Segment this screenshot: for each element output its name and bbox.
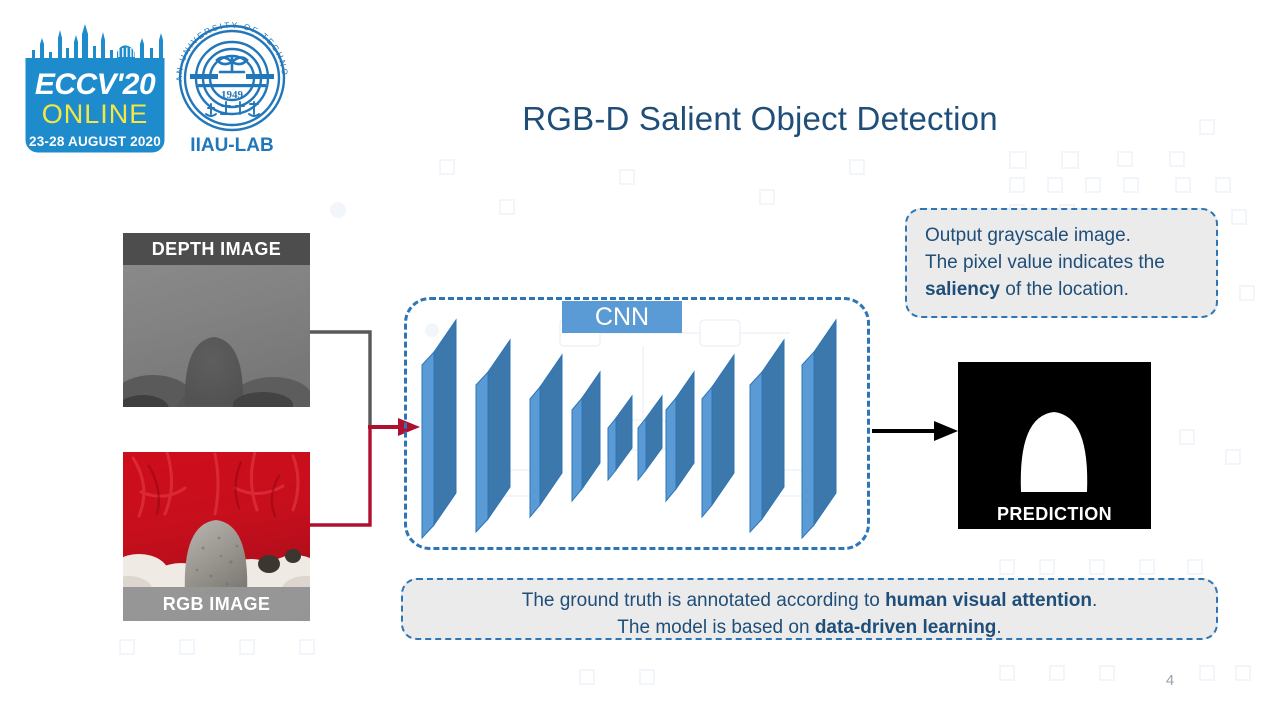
page-title: RGB-D Salient Object Detection — [430, 100, 1090, 138]
eccv-2020-online-logo: ECCV'20 ONLINE 23-28 AUGUST 2020 — [22, 18, 168, 156]
gt-line2-post: . — [996, 617, 1001, 638]
eccv-logo-line1: ECCV'20 — [35, 68, 156, 101]
ground-truth-note-line1: The ground truth is annotated according … — [413, 587, 1206, 614]
gt-line1-pre: The ground truth is annotated according … — [522, 590, 885, 611]
output-note-emphasis: saliency — [925, 279, 1000, 300]
rgb-image-label: RGB IMAGE — [123, 587, 310, 621]
cnn-badge-label: CNN — [562, 301, 682, 333]
output-note-line3-tail: of the location. — [1000, 279, 1129, 300]
depth-image-card: DEPTH IMAGE — [123, 233, 310, 407]
output-note-line2: The pixel value indicates the — [925, 249, 1202, 276]
prediction-image-label: PREDICTION — [958, 504, 1151, 525]
gt-line1-post: . — [1092, 590, 1097, 611]
eccv-logo-line2: ONLINE — [42, 99, 149, 129]
slide-canvas: ECCV'20 ONLINE 23-28 AUGUST 2020 — [0, 0, 1272, 711]
dut-logo-year: 1949 — [221, 89, 244, 101]
gt-line2-pre: The model is based on — [617, 617, 815, 638]
ground-truth-note-line2: The model is based on data-driven learni… — [413, 614, 1206, 641]
rgb-image-card: RGB IMAGE — [123, 452, 310, 621]
dut-logo-caption: IIAU-LAB — [190, 135, 273, 156]
dalian-university-of-technology-logo: 1949 DALIAN UNIVERSITY OF TECHNOLOGY IIA… — [168, 14, 296, 156]
output-note-line3: saliency of the location. — [925, 276, 1202, 303]
output-note-callout: Output grayscale image. The pixel value … — [905, 208, 1218, 318]
eccv-logo-line3: 23-28 AUGUST 2020 — [29, 134, 161, 149]
cnn-layer — [422, 320, 836, 538]
page-number: 4 — [1150, 672, 1190, 689]
gt-line1-emphasis: human visual attention — [885, 590, 1092, 611]
output-note-line1: Output grayscale image. — [925, 222, 1202, 249]
cnn-layer-stack — [404, 297, 870, 550]
depth-image-label: DEPTH IMAGE — [123, 233, 310, 265]
gt-line2-emphasis: data-driven learning — [815, 617, 997, 638]
ground-truth-note-callout: The ground truth is annotated according … — [401, 578, 1218, 640]
prediction-image-card: PREDICTION — [958, 362, 1151, 529]
